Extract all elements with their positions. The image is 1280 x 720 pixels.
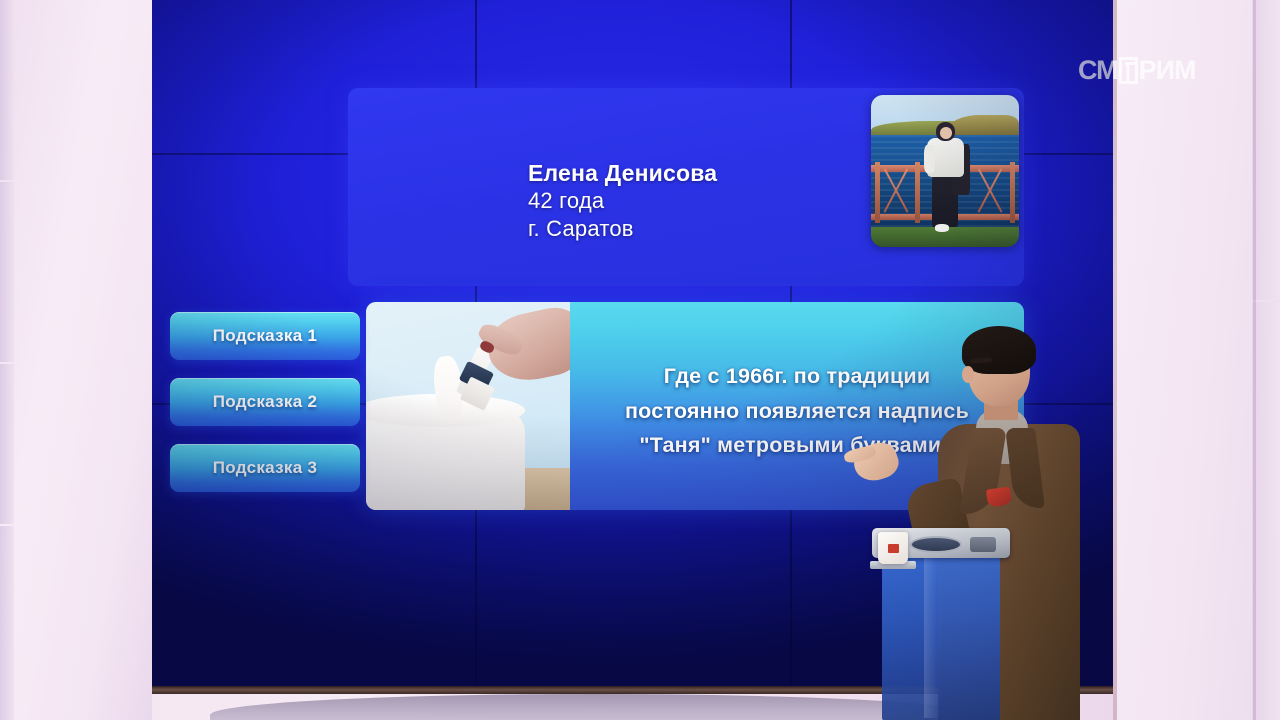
hint-button-3-label: Подсказка 3 (213, 458, 317, 478)
wall-panel-segment (1252, 0, 1280, 300)
wall-panel-segment (0, 0, 14, 180)
wall-edge-trim (1113, 0, 1117, 720)
wall-seam (1253, 0, 1256, 720)
photo-person-arm (924, 145, 934, 172)
wall-panel-segment (1252, 302, 1280, 720)
wall-panel-segment (0, 526, 14, 720)
question-line-1: Где с 1966г. по традиции (664, 359, 931, 394)
smotrim-watermark-logo: СМ РИМ (1078, 57, 1196, 84)
photo-person-shoe (935, 224, 950, 232)
studio-floor (210, 694, 980, 720)
hint-button-1-label: Подсказка 1 (213, 326, 317, 346)
photo-far-bank (948, 115, 1019, 136)
podium-button[interactable] (970, 537, 996, 552)
host-ear (962, 366, 974, 383)
hint-button-2[interactable]: Подсказка 2 (170, 378, 360, 426)
watermark-boxed-t-icon (1119, 57, 1138, 84)
podium-body (882, 556, 1000, 720)
coffee-mug (878, 532, 908, 564)
podium-highlight (924, 558, 940, 718)
hint-button-1[interactable]: Подсказка 1 (170, 312, 360, 360)
question-line-2: постоянно появляется надпись (625, 394, 969, 429)
mug-logo (888, 544, 899, 553)
hint-button-3[interactable]: Подсказка 3 (170, 444, 360, 492)
contestant-city: г. Саратов (528, 215, 717, 243)
photo-railing-post (1010, 162, 1015, 223)
contestant-photo (871, 95, 1019, 247)
watermark-prefix: СМ (1078, 57, 1118, 84)
studio-background: Елена Денисова 42 года г. Саратов (0, 0, 1280, 720)
contestant-age: 42 года (528, 187, 717, 215)
contestant-name: Елена Денисова (528, 160, 717, 187)
host-hair (962, 326, 1036, 374)
host-podium (872, 528, 1012, 720)
photo-railing-post (875, 162, 880, 223)
watermark-suffix: РИМ (1139, 57, 1196, 84)
question-illustration (366, 302, 570, 510)
contestant-info-panel: Елена Денисова 42 года г. Саратов (348, 88, 1024, 286)
hint-buttons-group: Подсказка 1 Подсказка 2 Подсказка 3 (170, 312, 360, 510)
contestant-details: Елена Денисова 42 года г. Саратов (528, 160, 717, 243)
studio-wall-left (0, 0, 152, 720)
photo-person-face (940, 127, 952, 139)
wall-panel-segment (0, 364, 14, 524)
photo-railing-post (915, 162, 920, 223)
wall-panel-segment (0, 182, 14, 362)
question-panel: Где с 1966г. по традиции постоянно появл… (366, 302, 1024, 510)
hint-button-2-label: Подсказка 2 (213, 392, 317, 412)
question-line-3: "Таня" метровыми буквами? (639, 428, 954, 463)
podium-control-oval[interactable] (910, 536, 962, 553)
